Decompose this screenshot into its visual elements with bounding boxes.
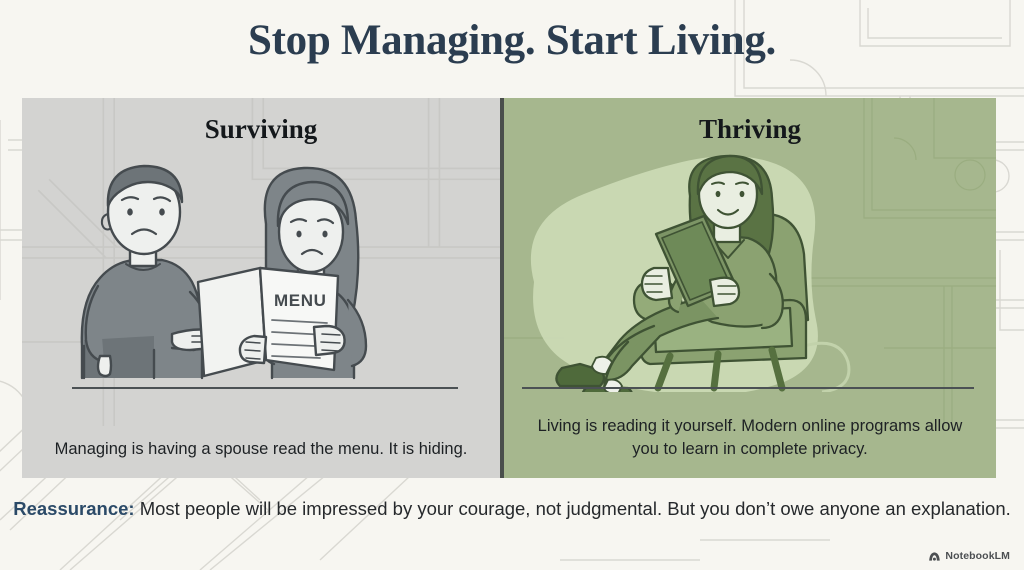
- watermark-label: NotebookLM: [945, 550, 1010, 562]
- panel-surviving-heading: Surviving: [22, 114, 500, 145]
- reassurance-text: Reassurance: Most people will be impress…: [0, 496, 1024, 522]
- reassurance-label: Reassurance:: [13, 498, 134, 519]
- panel-surviving: Surviving: [22, 98, 500, 478]
- illustration-man-gesturing-woman-reading-menu: MENU: [22, 150, 402, 392]
- slide-root: Stop Managing. Start Living. Surviving: [0, 0, 1024, 570]
- panel-thriving-caption: Living is reading it yourself. Modern on…: [530, 415, 970, 460]
- reassurance-body: Most people will be impressed by your co…: [135, 498, 1011, 519]
- notebooklm-watermark: NotebookLM: [928, 550, 1010, 562]
- notebooklm-logo-icon: [928, 551, 941, 562]
- panel-thriving: Thriving: [504, 98, 996, 478]
- ground-line-left: [72, 387, 458, 389]
- ground-line-right: [522, 387, 974, 389]
- panel-thriving-heading: Thriving: [504, 114, 996, 145]
- svg-text:MENU: MENU: [274, 291, 326, 310]
- page-title: Stop Managing. Start Living.: [0, 16, 1024, 65]
- comparison-panels: Surviving: [22, 98, 996, 478]
- panel-surviving-caption: Managing is having a spouse read the men…: [48, 438, 474, 460]
- illustration-woman-reading-tablet-in-armchair: [504, 150, 884, 392]
